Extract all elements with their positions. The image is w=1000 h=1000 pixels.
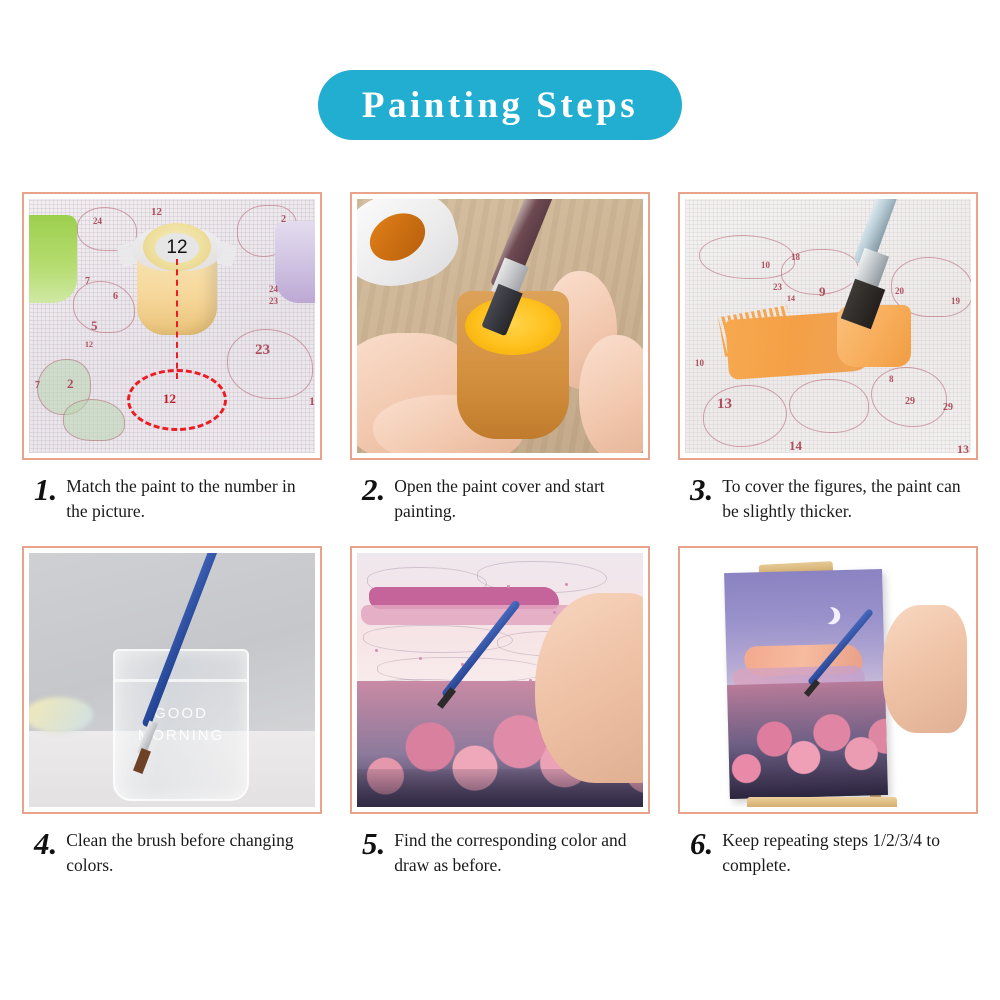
canvas-number: 13 xyxy=(957,443,969,453)
canvas-number: 9 xyxy=(819,285,826,298)
water-glass: GOOD MORNING xyxy=(113,649,249,801)
canvas-shape xyxy=(789,379,869,433)
canvas-number: 10 xyxy=(695,359,704,368)
canvas-number: 23 xyxy=(255,343,270,358)
partly-painted-cherry-blossom-canvas-with-hand-image xyxy=(357,553,643,807)
canvas-number: 19 xyxy=(951,297,960,306)
callout-dashed-line xyxy=(176,259,178,379)
step-4-caption: 4. Clean the brush before changing color… xyxy=(22,828,322,878)
step-text: Match the paint to the number in the pic… xyxy=(66,474,306,524)
canvas-number: 29 xyxy=(905,397,915,407)
step-card-1: 12 24 2 7 6 5 23 12 24 23 2 7 12 xyxy=(22,192,322,524)
canvas-number: 24 xyxy=(269,285,278,294)
canvas-number: 20 xyxy=(895,287,904,296)
canvas-number: 24 xyxy=(93,217,102,226)
canvas-number: 6 xyxy=(113,292,118,302)
step-3-image-frame: 10 18 23 14 9 20 20 13 14 29 10 29 19 13… xyxy=(678,192,978,460)
step-number: 1. xyxy=(34,474,57,502)
step-number: 5. xyxy=(362,828,385,856)
paint-pot-matched-to-canvas-number-image: 12 24 2 7 6 5 23 12 24 23 2 7 12 xyxy=(29,199,315,453)
step-4-image-frame: GOOD MORNING xyxy=(22,546,322,814)
crescent-moon xyxy=(817,606,834,623)
step-1-image-frame: 12 24 2 7 6 5 23 12 24 23 2 7 12 xyxy=(22,192,322,460)
canvas-number: 13 xyxy=(717,397,732,412)
canvas-number: 14 xyxy=(789,439,802,452)
hand xyxy=(883,605,967,733)
canvas-number: 23 xyxy=(773,283,782,292)
step-card-5: 5. Find the corresponding color and draw… xyxy=(350,546,650,878)
canvas-number: 7 xyxy=(85,277,90,287)
step-card-3: 10 18 23 14 9 20 20 13 14 29 10 29 19 13… xyxy=(678,192,978,524)
step-text: Clean the brush before changing colors. xyxy=(66,828,306,878)
finger xyxy=(579,335,643,453)
number-dot xyxy=(507,585,510,588)
step-5-caption: 5. Find the corresponding color and draw… xyxy=(350,828,650,878)
page-title: Painting Steps xyxy=(362,87,638,124)
canvas-number: 7 xyxy=(35,381,40,391)
steps-grid: 12 24 2 7 6 5 23 12 24 23 2 7 12 xyxy=(22,192,978,878)
step-card-2: 2. Open the paint cover and start painti… xyxy=(350,192,650,524)
canvas-number: 2 xyxy=(67,377,74,390)
glass-print-text: GOOD MORNING xyxy=(115,703,247,747)
canvas-number: 29 xyxy=(943,403,953,413)
title-banner: Painting Steps xyxy=(318,70,682,140)
canvas-number: 18 xyxy=(791,253,800,262)
painted-cherry-blossoms xyxy=(724,681,888,799)
canvas-number: 8 xyxy=(889,375,894,384)
hand-holding-open-paint-pot-with-brush-image xyxy=(357,199,643,453)
brush-applying-orange-paint-on-numbered-canvas-image: 10 18 23 14 9 20 20 13 14 29 10 29 19 13… xyxy=(685,199,971,453)
step-text: Keep repeating steps 1/2/3/4 to complete… xyxy=(722,828,962,878)
step-2-caption: 2. Open the paint cover and start painti… xyxy=(350,474,650,524)
step-text: Find the corresponding color and draw as… xyxy=(394,828,634,878)
step-number: 6. xyxy=(690,828,713,856)
canvas-number: 23 xyxy=(269,297,278,306)
callout-dashed-ellipse xyxy=(127,369,227,431)
canvas-number: 14 xyxy=(787,295,795,303)
step-3-caption: 3. To cover the figures, the paint can b… xyxy=(678,474,978,524)
step-5-image-frame xyxy=(350,546,650,814)
step-card-6: 6. Keep repeating steps 1/2/3/4 to compl… xyxy=(678,546,978,878)
brush-being-rinsed-in-glass-of-water-image: GOOD MORNING xyxy=(29,553,315,807)
step-number: 3. xyxy=(690,474,713,502)
page-header: Painting Steps xyxy=(0,70,1000,140)
callout-number: 12 xyxy=(163,391,176,407)
number-dot xyxy=(375,649,378,652)
glass-text-line-2: MORNING xyxy=(115,725,247,747)
step-6-caption: 6. Keep repeating steps 1/2/3/4 to compl… xyxy=(678,828,978,878)
finished-canvas xyxy=(724,569,888,799)
easel-shelf xyxy=(747,797,897,807)
number-dot xyxy=(419,657,422,660)
purple-paint-pot xyxy=(275,221,315,303)
number-dot xyxy=(565,583,568,586)
step-number: 2. xyxy=(362,474,385,502)
canvas-shape xyxy=(63,399,125,441)
canvas-number: 5 xyxy=(91,319,98,332)
finished-painting-on-wooden-easel-image xyxy=(685,553,971,807)
number-dot xyxy=(553,611,556,614)
step-6-image-frame xyxy=(678,546,978,814)
step-card-4: GOOD MORNING 4. Clean the brush before c… xyxy=(22,546,322,878)
water-level-line xyxy=(115,679,247,682)
canvas-number: 12 xyxy=(309,395,315,407)
step-text: Open the paint cover and start painting. xyxy=(394,474,634,524)
lid-paint-residue xyxy=(362,204,434,270)
step-2-image-frame xyxy=(350,192,650,460)
step-1-caption: 1. Match the paint to the number in the … xyxy=(22,474,322,524)
canvas-number: 12 xyxy=(85,341,93,349)
canvas-number: 2 xyxy=(281,215,286,225)
glass-text-line-1: GOOD xyxy=(115,703,247,725)
step-number: 4. xyxy=(34,828,57,856)
canvas-number: 10 xyxy=(761,261,770,270)
step-text: To cover the figures, the paint can be s… xyxy=(722,474,962,524)
green-paint-pot xyxy=(29,215,77,303)
